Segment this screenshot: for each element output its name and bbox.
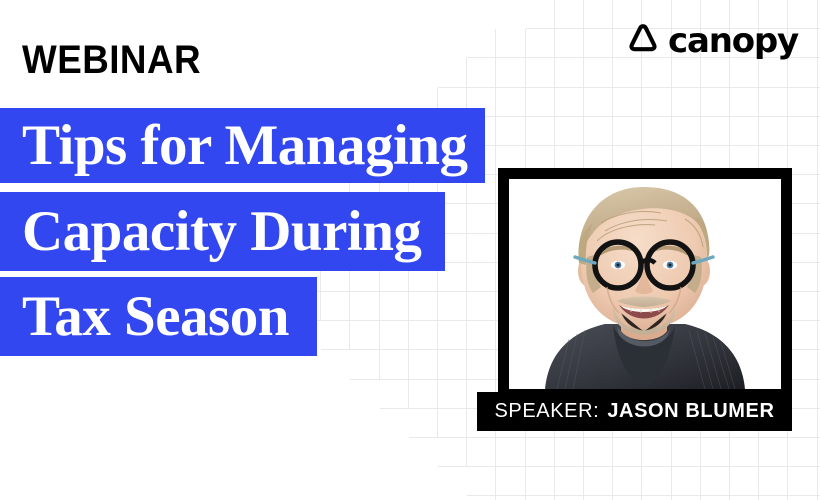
grid-cell [350, 292, 379, 321]
grid-cell [496, 88, 525, 117]
grid-cell [526, 88, 555, 117]
grid-cell [467, 234, 496, 263]
grid-cell [555, 88, 584, 117]
grid-cell [788, 467, 817, 496]
grid-cell [642, 438, 671, 467]
grid-cell [701, 58, 730, 87]
grid-cell [526, 0, 555, 29]
grid-cell [701, 496, 730, 500]
grid-cell [759, 117, 788, 146]
grid-cell [438, 409, 467, 438]
grid-cell [788, 380, 817, 409]
grid-cell [584, 88, 613, 117]
grid-cell [613, 58, 642, 87]
grid-cell [438, 58, 467, 87]
grid-cell [672, 496, 701, 500]
grid-cell [759, 496, 788, 500]
grid-cell [380, 380, 409, 409]
grid-cell [672, 438, 701, 467]
grid-cell [788, 175, 817, 204]
grid-cell [642, 58, 671, 87]
speaker-banner: SPEAKER: JASON BLUMER [477, 392, 792, 431]
grid-cell [584, 0, 613, 29]
grid-cell [613, 438, 642, 467]
grid-cell [788, 234, 817, 263]
grid-cell [555, 0, 584, 29]
grid-cell [730, 496, 759, 500]
grid-cell [759, 438, 788, 467]
grid-cell [642, 496, 671, 500]
grid-cell [788, 204, 817, 233]
grid-cell [496, 29, 525, 58]
grid-cell [642, 467, 671, 496]
grid-cell [438, 292, 467, 321]
grid-cell [672, 58, 701, 87]
grid-cell [701, 117, 730, 146]
speaker-name: JASON BLUMER [607, 400, 774, 423]
grid-cell [555, 58, 584, 87]
speaker-label: SPEAKER: [494, 400, 599, 423]
grid-cell [730, 88, 759, 117]
grid-cell [496, 438, 525, 467]
grid-cell [467, 467, 496, 496]
grid-cell [584, 117, 613, 146]
grid-cell [642, 88, 671, 117]
grid-cell [759, 467, 788, 496]
grid-cell [526, 117, 555, 146]
grid-cell [788, 117, 817, 146]
grid-cell [496, 467, 525, 496]
grid-cell [730, 117, 759, 146]
grid-cell [788, 146, 817, 175]
grid-cell [555, 467, 584, 496]
grid-cell [584, 29, 613, 58]
grid-cell [467, 29, 496, 58]
grid-cell [526, 58, 555, 87]
grid-cell [350, 321, 379, 350]
speaker-photo-frame [498, 168, 792, 400]
grid-cell [409, 292, 438, 321]
title-line-2: Capacity During [0, 192, 445, 271]
grid-cell [759, 88, 788, 117]
grid-cell [496, 58, 525, 87]
grid-cell [555, 29, 584, 58]
grid-cell [555, 438, 584, 467]
grid-cell [467, 438, 496, 467]
grid-cell [467, 263, 496, 292]
grid-cell [672, 117, 701, 146]
speaker-portrait [509, 179, 781, 389]
grid-cell [526, 496, 555, 500]
grid-cell [555, 496, 584, 500]
grid-cell [438, 438, 467, 467]
grid-cell [788, 350, 817, 379]
grid-cell [409, 350, 438, 379]
grid-cell [701, 438, 730, 467]
grid-cell [613, 117, 642, 146]
title-line-1: Tips for Managing [0, 108, 485, 183]
grid-cell [788, 292, 817, 321]
grid-cell [788, 58, 817, 87]
eyebrow-label: WEBINAR [22, 40, 201, 80]
grid-cell [467, 292, 496, 321]
grid-cell [438, 350, 467, 379]
canopy-wordmark: canopy [668, 24, 798, 58]
grid-cell [321, 321, 350, 350]
grid-cell [759, 58, 788, 87]
grid-cell [438, 380, 467, 409]
triangle-outline-icon [627, 22, 659, 59]
grid-cell [672, 88, 701, 117]
grid-cell [701, 88, 730, 117]
grid-cell [380, 321, 409, 350]
grid-cell [438, 321, 467, 350]
grid-cell [788, 409, 817, 438]
grid-cell [321, 292, 350, 321]
grid-cell [350, 350, 379, 379]
grid-cell [467, 496, 496, 500]
grid-cell [467, 350, 496, 379]
grid-cell [788, 88, 817, 117]
grid-cell [380, 350, 409, 379]
grid-cell [526, 438, 555, 467]
grid-cell [467, 321, 496, 350]
grid-cell [409, 321, 438, 350]
grid-cell [409, 380, 438, 409]
grid-cell [672, 467, 701, 496]
grid-cell [701, 467, 730, 496]
grid-cell [467, 204, 496, 233]
grid-cell [788, 496, 817, 500]
grid-cell [526, 29, 555, 58]
grid-cell [584, 58, 613, 87]
grid-cell [730, 58, 759, 87]
grid-cell [584, 496, 613, 500]
grid-cell [730, 438, 759, 467]
grid-cell [613, 496, 642, 500]
grid-cell [380, 292, 409, 321]
grid-cell [409, 409, 438, 438]
grid-cell [613, 88, 642, 117]
grid-cell [496, 117, 525, 146]
grid-cell [788, 438, 817, 467]
title-line-3: Tax Season [0, 277, 317, 356]
webinar-promo-graphic: WEBINAR Tips for Managing Capacity Durin… [0, 0, 820, 500]
grid-cell [584, 438, 613, 467]
grid-cell [584, 467, 613, 496]
grid-cell [526, 467, 555, 496]
grid-cell [467, 58, 496, 87]
grid-cell [788, 263, 817, 292]
grid-cell [730, 467, 759, 496]
grid-cell [496, 496, 525, 500]
grid-cell [642, 117, 671, 146]
canopy-logo: canopy [627, 22, 798, 59]
grid-cell [788, 321, 817, 350]
grid-cell [555, 117, 584, 146]
grid-cell [613, 467, 642, 496]
